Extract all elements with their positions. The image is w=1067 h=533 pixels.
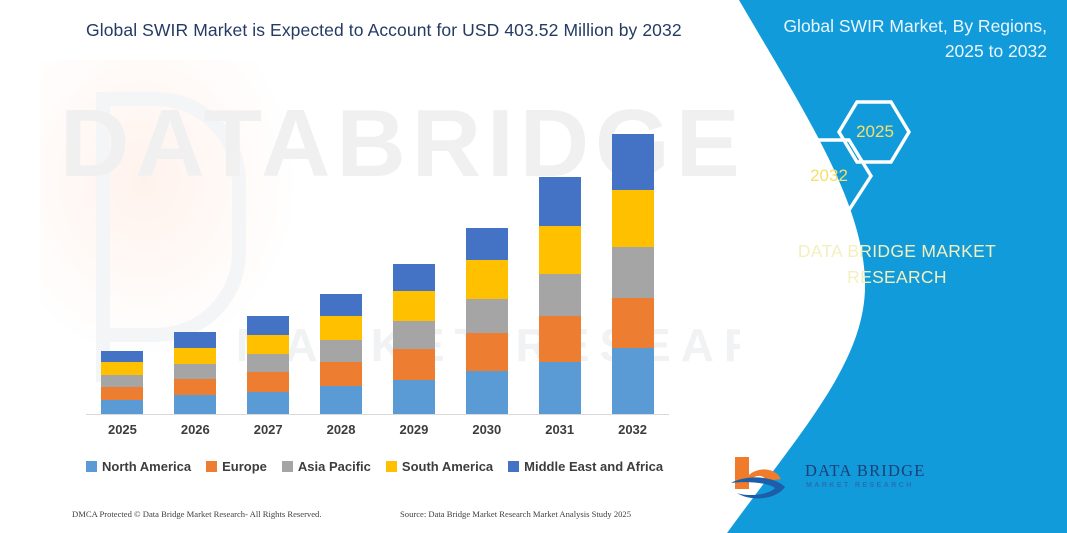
bar-segment [539,177,581,226]
legend-label: Europe [222,459,267,474]
bar-2029 [393,264,435,414]
bar-2027 [247,316,289,414]
x-axis-label-2027: 2027 [232,422,304,437]
bar-segment [320,362,362,386]
bar-segment [174,379,216,395]
bar-segment [174,348,216,364]
brand-panel: Global SWIR Market, By Regions, 2025 to … [707,0,1067,533]
bar-segment [174,364,216,379]
bar-2025 [101,351,143,414]
x-axis-label-2031: 2031 [524,422,596,437]
panel-brand-text: DATA BRIDGE MARKET RESEARCH [747,238,1047,291]
data-bridge-logo: DATA BRIDGE MARKET RESEARCH [729,455,929,513]
bar-segment [466,371,508,414]
panel-title: Global SWIR Market, By Regions, 2025 to … [747,14,1047,64]
legend-swatch-icon [86,461,97,472]
legend-item[interactable]: Asia Pacific [282,459,371,474]
page-title: Global SWIR Market is Expected to Accoun… [86,20,682,41]
bar-segment [466,333,508,371]
x-axis-label-2026: 2026 [159,422,231,437]
bar-segment [466,299,508,333]
bar-segment [612,298,654,348]
bar-2026 [174,332,216,414]
bar-segment [247,316,289,335]
bar-segment [247,392,289,414]
logo-wordmark: DATA BRIDGE [805,461,926,481]
bar-segment [393,264,435,291]
bar-segment [393,349,435,380]
bar-segment [539,274,581,316]
bar-segment [320,316,362,340]
bar-segment [612,247,654,298]
footer-source: Source: Data Bridge Market Research Mark… [400,509,631,519]
infographic-canvas: DATABRIDGE MARKET RESEARCH Global SWIR M… [0,0,1067,533]
legend-label: Middle East and Africa [524,459,663,474]
legend-item[interactable]: North America [86,459,191,474]
bar-segment [174,395,216,414]
bar-2032 [612,134,654,414]
hexagon-badges: 2032 2025 [779,96,979,212]
legend-swatch-icon [282,461,293,472]
bar-2028 [320,294,362,414]
legend-label: South America [402,459,493,474]
bar-segment [320,386,362,414]
bar-segment [101,351,143,362]
legend-item[interactable]: Europe [206,459,267,474]
bar-segment [101,362,143,375]
legend-swatch-icon [508,461,519,472]
x-axis-label-2032: 2032 [597,422,669,437]
bar-segment [539,316,581,362]
bar-segment [612,348,654,414]
legend-item[interactable]: Middle East and Africa [508,459,663,474]
bar-segment [466,260,508,299]
legend-swatch-icon [386,461,397,472]
x-axis-label-2030: 2030 [451,422,523,437]
bar-segment [612,134,654,190]
legend-swatch-icon [206,461,217,472]
bar-segment [612,190,654,247]
x-axis-label-2025: 2025 [86,422,158,437]
bar-segment [101,400,143,414]
logo-tagline: MARKET RESEARCH [806,480,914,489]
bar-segment [539,226,581,274]
legend-item[interactable]: South America [386,459,493,474]
bar-segment [247,372,289,392]
x-axis-line [86,414,669,415]
chart-legend: North AmericaEuropeAsia PacificSouth Ame… [86,455,686,477]
bar-segment [247,335,289,354]
bar-segment [393,380,435,414]
hexagon-shapes [779,96,979,212]
bar-segment [174,332,216,348]
x-axis-labels: 20252026202720282029203020312032 [86,422,669,444]
bar-segment [466,228,508,260]
bar-segment [539,362,581,414]
bar-segment [320,340,362,362]
bar-2030 [466,228,508,414]
hexagon-left-label: 2032 [801,166,857,186]
bar-segment [320,294,362,316]
bar-segment [247,354,289,372]
footer-copyright: DMCA Protected © Data Bridge Market Rese… [72,509,322,519]
bar-segment [101,387,143,400]
bar-segment [101,375,143,387]
legend-label: North America [102,459,191,474]
hexagon-right-label: 2025 [847,122,903,142]
bar-segment [393,321,435,349]
x-axis-label-2028: 2028 [305,422,377,437]
bar-segment [393,291,435,321]
logo-mark-icon [729,455,799,507]
stacked-bar-chart [86,60,669,414]
x-axis-label-2029: 2029 [378,422,450,437]
legend-label: Asia Pacific [298,459,371,474]
bar-2031 [539,177,581,414]
